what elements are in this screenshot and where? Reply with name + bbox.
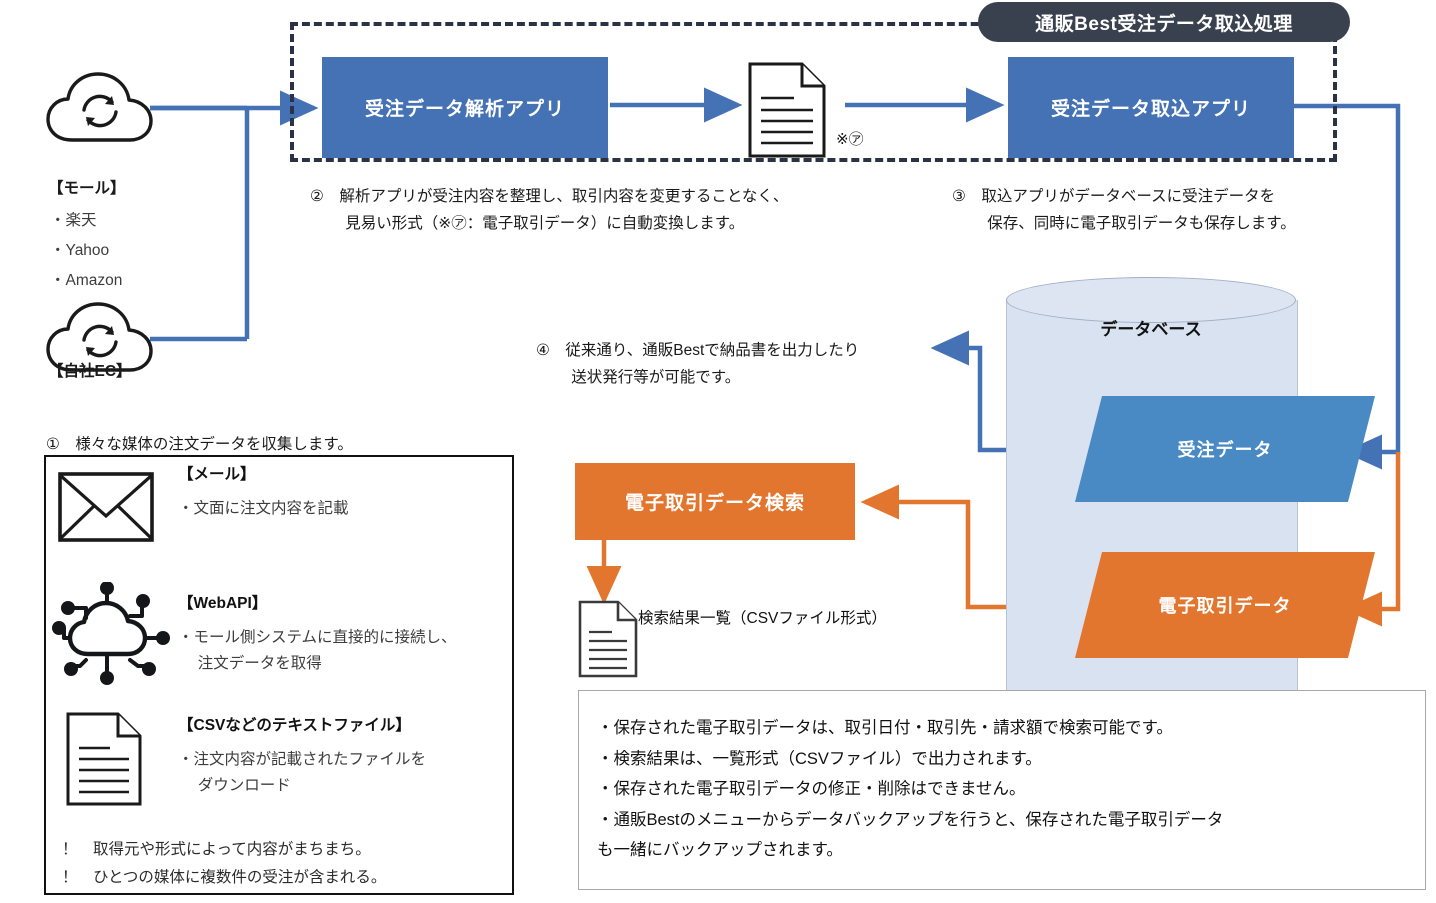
connector-mall-to-parse: [150, 107, 247, 108]
import-app-box[interactable]: 受注データ取込アプリ: [1008, 57, 1294, 158]
mail-source-body: ・文面に注文内容を記載: [178, 496, 349, 522]
step-3-caption: ③ 取込アプリがデータベースに受注データを 保存、同時に電子取引データも保存しま…: [952, 183, 1372, 237]
mall-item-amazon: ・Amazon: [50, 269, 122, 293]
etransaction-search-box[interactable]: 電子取引データ検索: [575, 463, 855, 540]
csv-source-head: 【CSVなどのテキストファイル】: [178, 714, 411, 738]
own-ec-label: 【自社EC】: [48, 360, 132, 384]
search-result-caption: 検索結果一覧（CSVファイル形式）: [638, 607, 887, 631]
source-warning-2: ！ ひとつの媒体に複数件の受注が含まれる。: [62, 866, 386, 890]
source-warning-1: ！ 取得元や形式によって内容がまちまち。: [62, 838, 371, 862]
database-cylinder-body: [1006, 300, 1298, 725]
mall-label: 【モール】: [48, 177, 126, 201]
mail-source-head: 【メール】: [178, 463, 256, 487]
electronic-transaction-doc-icon: [748, 62, 826, 158]
step-2-caption: ② 解析アプリが受注内容を整理し、取引内容を変更することなく、 見易い形式（※㋐…: [310, 183, 970, 237]
doc-reference-note: ※㋐: [836, 128, 864, 151]
process-title-badge: 通販Best受注データ取込処理: [978, 2, 1350, 42]
connector-etrans-to-search: [865, 502, 1008, 607]
note-line-4: ・通販Bestのメニューからデータバックアップを行うと、保存された電子取引データ…: [597, 805, 1407, 866]
document-icon: [66, 712, 142, 806]
orders-data-shape[interactable]: 受注データ: [1075, 396, 1375, 502]
mall-item-rakuten: ・楽天: [50, 209, 97, 233]
mall-cloud-icon: [44, 64, 156, 152]
csv-source-body: ・注文内容が記載されたファイルを ダウンロード: [178, 747, 426, 800]
step-4-caption: ④ 従来通り、通販Bestで納品書を出力したり 送状発行等が可能です。: [536, 337, 956, 391]
etransaction-data-shape[interactable]: 電子取引データ: [1075, 552, 1375, 658]
notes-panel: ・保存された電子取引データは、取引日付・取引先・請求額で検索可能です。 ・検索結…: [578, 690, 1426, 890]
diagram-canvas: 通販Best受注データ取込処理 受注データ解析アプリ 受注データ取込アプリ ※㋐: [0, 0, 1436, 903]
search-result-doc-icon: [578, 600, 638, 678]
parse-app-box[interactable]: 受注データ解析アプリ: [322, 57, 608, 158]
envelope-icon: [58, 472, 154, 542]
note-line-3: ・保存された電子取引データの修正・削除はできません。: [597, 774, 1407, 805]
database-label: データベース: [1006, 317, 1296, 343]
webapi-source-head: 【WebAPI】: [178, 592, 267, 616]
mall-item-yahoo: ・Yahoo: [50, 239, 109, 263]
webapi-source-body: ・モール側システムに直接的に接続し、 注文データを取得: [178, 625, 457, 678]
note-line-1: ・保存された電子取引データは、取引日付・取引先・請求額で検索可能です。: [597, 713, 1407, 744]
note-line-2: ・検索結果は、一覧形式（CSVファイル）で出力されます。: [597, 744, 1407, 775]
cloud-network-icon: [50, 582, 170, 686]
